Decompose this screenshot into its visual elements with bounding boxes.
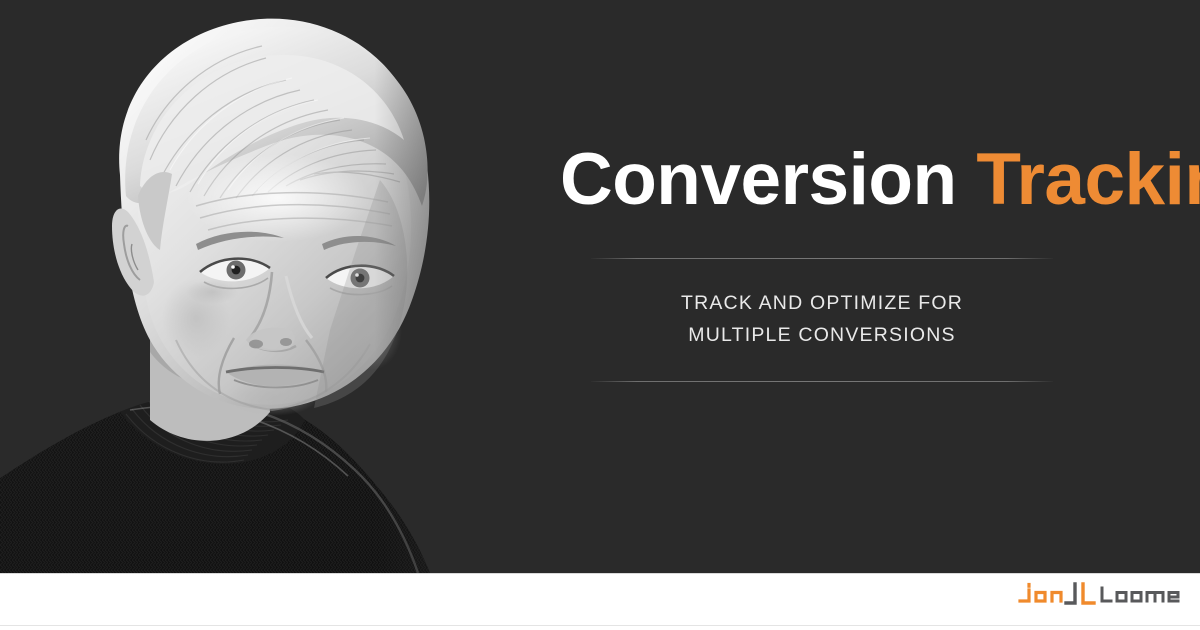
page-subtitle: TRACK AND OPTIMIZE FOR MULTIPLE CONVERSI… bbox=[560, 259, 1084, 381]
page-title: Conversion Tracking bbox=[560, 140, 1084, 220]
logo-text: jon Loomer bbox=[1182, 582, 1183, 583]
subtitle-line-2: MULTIPLE CONVERSIONS bbox=[688, 324, 955, 346]
divider-bottom bbox=[591, 381, 1053, 382]
portrait-photo bbox=[0, 0, 520, 573]
promo-slide: Conversion Tracking TRACK AND OPTIMIZE F… bbox=[0, 0, 1200, 630]
footer-hairline bbox=[0, 625, 1200, 626]
subtitle-line-1: TRACK AND OPTIMIZE FOR bbox=[681, 292, 963, 314]
dark-stage: Conversion Tracking TRACK AND OPTIMIZE F… bbox=[0, 0, 1200, 573]
headline-primary: Conversion bbox=[560, 139, 957, 220]
footer-bar: jon Loomer bbox=[0, 573, 1200, 630]
jon-loomer-logo[interactable]: jon Loomer bbox=[1012, 582, 1182, 612]
title-block: Conversion Tracking TRACK AND OPTIMIZE F… bbox=[560, 140, 1084, 382]
headline-accent: Tracking bbox=[976, 139, 1200, 220]
